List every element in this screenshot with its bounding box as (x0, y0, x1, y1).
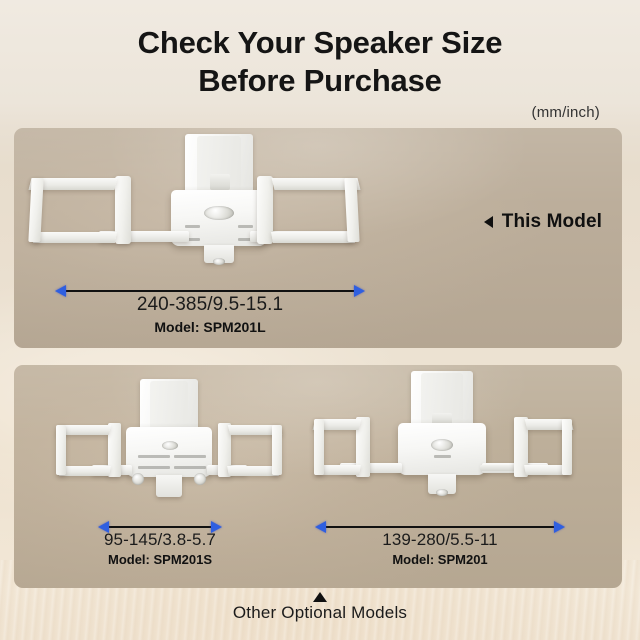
page-title: Check Your Speaker Size Before Purchase (0, 24, 640, 100)
caption-main: 240-385/9.5-15.1 Model: SPM201L (55, 294, 365, 336)
this-model-label: This Model (502, 211, 602, 233)
arrow-head-left-icon (315, 521, 326, 533)
model-label-small: Model: SPM201S (60, 552, 260, 568)
size-value-main: 240-385/9.5-15.1 (55, 294, 365, 317)
model-label-main: Model: SPM201L (55, 319, 365, 336)
title-line-2: Before Purchase (105, 62, 535, 100)
infographic-canvas: Check Your Speaker Size Before Purchase … (0, 0, 640, 640)
arrow-line (326, 526, 554, 528)
this-model-callout: This Model (484, 211, 602, 233)
arrow-head-right-icon (554, 521, 565, 533)
arrow-line (66, 290, 354, 292)
size-value-small: 95-145/3.8-5.7 (60, 530, 260, 550)
left-triangle-icon (484, 216, 493, 228)
title-line-1: Check Your Speaker Size (105, 24, 535, 62)
size-value-medium: 139-280/5.5-11 (340, 530, 540, 550)
caption-medium: 139-280/5.5-11 Model: SPM201 (340, 530, 540, 568)
model-label-medium: Model: SPM201 (340, 552, 540, 568)
other-models-label: Other Optional Models (0, 603, 640, 623)
caption-small: 95-145/3.8-5.7 Model: SPM201S (60, 530, 260, 568)
up-triangle-icon (313, 592, 327, 602)
other-models-callout: Other Optional Models (0, 592, 640, 623)
unit-note: (mm/inch) (532, 104, 600, 121)
arrow-line (109, 526, 211, 528)
